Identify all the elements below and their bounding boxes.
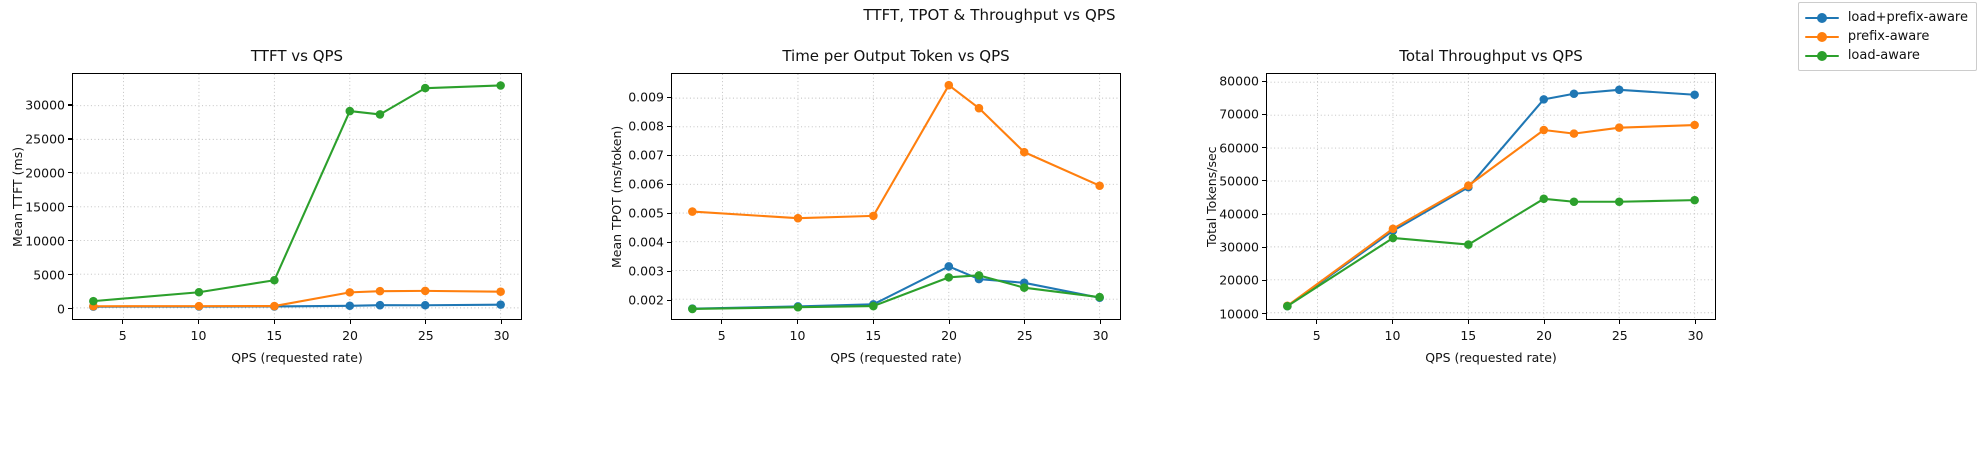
x-axis-tick-mark xyxy=(122,320,123,324)
subplot-title: Total Throughput vs QPS xyxy=(1266,47,1716,65)
x-axis-tick-label: 15 xyxy=(1460,328,1476,343)
data-point xyxy=(421,287,430,296)
data-point xyxy=(1690,196,1699,205)
data-point xyxy=(346,302,355,311)
y-axis-tick-mark xyxy=(68,138,72,139)
series-line xyxy=(692,266,1099,308)
x-axis-tick-label: 5 xyxy=(718,328,726,343)
series-line xyxy=(1287,90,1694,306)
x-axis-tick-mark xyxy=(425,320,426,324)
x-axis-tick-label: 20 xyxy=(941,328,957,343)
data-point xyxy=(1570,198,1579,207)
x-axis-tick-label: 10 xyxy=(790,328,806,343)
y-axis-tick-mark xyxy=(68,172,72,173)
subplot-title: Time per Output Token vs QPS xyxy=(671,47,1121,65)
data-point xyxy=(794,303,803,312)
data-point xyxy=(1020,148,1029,157)
x-axis-tick-label: 20 xyxy=(1536,328,1552,343)
y-axis-tick-label: 10000 xyxy=(25,233,65,248)
data-point xyxy=(1095,293,1104,302)
y-axis-tick-mark xyxy=(68,206,72,207)
y-axis-tick-mark xyxy=(68,308,72,309)
data-point xyxy=(688,305,697,314)
y-axis-tick-mark xyxy=(1262,147,1266,148)
y-axis-label: Total Tokens/sec xyxy=(1204,146,1219,247)
x-axis-tick-mark xyxy=(1024,320,1025,324)
y-axis-tick-mark xyxy=(1262,81,1266,82)
data-point xyxy=(1283,302,1292,311)
x-axis-tick-mark xyxy=(1695,320,1696,324)
y-axis-tick-mark xyxy=(667,242,671,243)
data-point xyxy=(1020,283,1029,292)
x-axis-tick-label: 25 xyxy=(418,328,434,343)
data-point xyxy=(1615,198,1624,207)
plot-area xyxy=(671,73,1121,320)
series-line xyxy=(692,85,1099,218)
legend-item-label: load+prefix-aware xyxy=(1848,10,1968,25)
x-axis-tick-mark xyxy=(1100,320,1101,324)
y-axis-tick-label: 0.009 xyxy=(628,90,664,105)
x-axis-tick-label: 15 xyxy=(865,328,881,343)
series-line xyxy=(1287,125,1694,306)
figure: TTFT, TPOT & Throughput vs QPS TTFT vs Q… xyxy=(0,0,1979,455)
plot-canvas xyxy=(73,74,521,319)
legend-dot-icon xyxy=(1817,51,1827,61)
data-point xyxy=(496,300,505,309)
y-axis-tick-label: 0.005 xyxy=(628,206,664,221)
data-point xyxy=(688,207,697,216)
x-axis-tick-label: 25 xyxy=(1612,328,1628,343)
y-axis-tick-label: 20000 xyxy=(1219,273,1259,288)
x-axis-tick-label: 10 xyxy=(191,328,207,343)
x-axis-tick-mark xyxy=(198,320,199,324)
y-axis-tick-mark xyxy=(667,271,671,272)
y-axis-tick-label: 5000 xyxy=(33,267,65,282)
y-axis-tick-label: 20000 xyxy=(25,165,65,180)
data-point xyxy=(1570,89,1579,98)
x-axis-tick-label: 30 xyxy=(494,328,510,343)
y-axis-tick-label: 0.003 xyxy=(628,264,664,279)
legend-marker-icon xyxy=(1805,30,1839,44)
y-axis-tick-label: 30000 xyxy=(25,97,65,112)
x-axis-tick-label: 25 xyxy=(1017,328,1033,343)
data-point xyxy=(421,84,430,93)
y-axis-tick-label: 25000 xyxy=(25,131,65,146)
y-axis-tick-mark xyxy=(1262,180,1266,181)
x-axis-tick-label: 30 xyxy=(1688,328,1704,343)
y-axis-tick-mark xyxy=(1262,313,1266,314)
data-point xyxy=(421,301,430,310)
y-axis-tick-label: 0.006 xyxy=(628,177,664,192)
x-axis-tick-mark xyxy=(1468,320,1469,324)
data-point xyxy=(869,212,878,221)
plot-area xyxy=(72,73,522,320)
y-axis-tick-mark xyxy=(667,97,671,98)
x-axis-tick-label: 5 xyxy=(1313,328,1321,343)
x-axis-tick-mark xyxy=(949,320,950,324)
legend-dot-icon xyxy=(1817,13,1827,23)
y-axis-tick-label: 0 xyxy=(57,301,65,316)
data-point xyxy=(496,81,505,90)
data-point xyxy=(376,110,385,119)
y-axis-tick-label: 10000 xyxy=(1219,306,1259,321)
y-axis-tick-label: 40000 xyxy=(1219,207,1259,222)
plot-canvas xyxy=(672,74,1120,319)
data-point xyxy=(195,302,204,311)
data-point xyxy=(1464,181,1473,190)
data-point xyxy=(346,107,355,116)
series-line xyxy=(1287,199,1694,306)
x-axis-tick-label: 15 xyxy=(266,328,282,343)
data-point xyxy=(376,287,385,296)
data-point xyxy=(1615,86,1624,95)
x-axis-tick-mark xyxy=(1392,320,1393,324)
x-axis-label: QPS (requested rate) xyxy=(671,350,1121,365)
y-axis-tick-mark xyxy=(1262,247,1266,248)
legend-item[interactable]: prefix-aware xyxy=(1805,27,1968,46)
subplot-title: TTFT vs QPS xyxy=(72,47,522,65)
data-point xyxy=(1389,225,1398,234)
legend-item-label: load-aware xyxy=(1848,48,1920,63)
plot-area xyxy=(1266,73,1716,320)
x-axis-label: QPS (requested rate) xyxy=(1266,350,1716,365)
x-axis-tick-mark xyxy=(721,320,722,324)
data-point xyxy=(1570,129,1579,138)
y-axis-tick-label: 15000 xyxy=(25,199,65,214)
x-axis-tick-mark xyxy=(1619,320,1620,324)
data-point xyxy=(975,104,984,113)
y-axis-tick-label: 0.002 xyxy=(628,293,664,308)
data-point xyxy=(945,262,954,271)
y-axis-tick-mark xyxy=(68,240,72,241)
data-point xyxy=(1615,123,1624,132)
data-point xyxy=(975,271,984,280)
y-axis-tick-label: 50000 xyxy=(1219,173,1259,188)
data-point xyxy=(195,288,204,297)
data-point xyxy=(270,276,279,285)
x-axis-tick-label: 30 xyxy=(1093,328,1109,343)
legend-item[interactable]: load-aware xyxy=(1805,46,1968,65)
y-axis-tick-mark xyxy=(68,104,72,105)
x-axis-tick-label: 5 xyxy=(119,328,127,343)
y-axis-tick-mark xyxy=(667,184,671,185)
x-axis-tick-mark xyxy=(1316,320,1317,324)
y-axis-tick-label: 0.008 xyxy=(628,119,664,134)
data-point xyxy=(1464,240,1473,249)
data-point xyxy=(1540,195,1549,204)
chart-legend[interactable]: load+prefix-awareprefix-awareload-aware xyxy=(1798,2,1977,71)
x-axis-tick-mark xyxy=(274,320,275,324)
y-axis-label: Mean TTFT (ms) xyxy=(10,146,25,246)
x-axis-tick-label: 20 xyxy=(342,328,358,343)
legend-marker-icon xyxy=(1805,11,1839,25)
series-line xyxy=(93,85,500,301)
data-point xyxy=(794,214,803,223)
data-point xyxy=(1540,126,1549,135)
y-axis-tick-mark xyxy=(1262,214,1266,215)
data-point xyxy=(869,302,878,311)
y-axis-tick-mark xyxy=(667,213,671,214)
data-point xyxy=(1690,121,1699,130)
y-axis-tick-label: 70000 xyxy=(1219,107,1259,122)
y-axis-tick-label: 60000 xyxy=(1219,140,1259,155)
y-axis-tick-mark xyxy=(68,274,72,275)
data-point xyxy=(945,81,954,90)
y-axis-label: Mean TPOT (ms/token) xyxy=(609,125,624,267)
data-point xyxy=(496,287,505,296)
x-axis-tick-mark xyxy=(1544,320,1545,324)
data-point xyxy=(270,302,279,311)
x-axis-tick-mark xyxy=(350,320,351,324)
x-axis-tick-mark xyxy=(501,320,502,324)
y-axis-tick-mark xyxy=(667,300,671,301)
x-axis-label: QPS (requested rate) xyxy=(72,350,522,365)
y-axis-tick-mark xyxy=(667,155,671,156)
y-axis-tick-mark xyxy=(1262,114,1266,115)
x-axis-tick-mark xyxy=(873,320,874,324)
data-point xyxy=(1389,234,1398,243)
series-line xyxy=(93,291,500,306)
data-point xyxy=(1095,181,1104,190)
legend-dot-icon xyxy=(1817,32,1827,42)
legend-marker-icon xyxy=(1805,49,1839,63)
y-axis-tick-label: 30000 xyxy=(1219,240,1259,255)
legend-item-label: prefix-aware xyxy=(1848,29,1930,44)
plot-canvas xyxy=(1267,74,1715,319)
y-axis-tick-label: 0.004 xyxy=(628,235,664,250)
data-point xyxy=(376,301,385,310)
y-axis-tick-mark xyxy=(667,126,671,127)
data-point xyxy=(1690,90,1699,99)
x-axis-tick-label: 10 xyxy=(1385,328,1401,343)
x-axis-tick-mark xyxy=(797,320,798,324)
data-point xyxy=(945,273,954,282)
y-axis-tick-label: 80000 xyxy=(1219,74,1259,89)
data-point xyxy=(89,297,98,306)
legend-item[interactable]: load+prefix-aware xyxy=(1805,8,1968,27)
data-point xyxy=(346,288,355,297)
data-point xyxy=(1540,95,1549,104)
y-axis-tick-mark xyxy=(1262,280,1266,281)
y-axis-tick-label: 0.007 xyxy=(628,148,664,163)
